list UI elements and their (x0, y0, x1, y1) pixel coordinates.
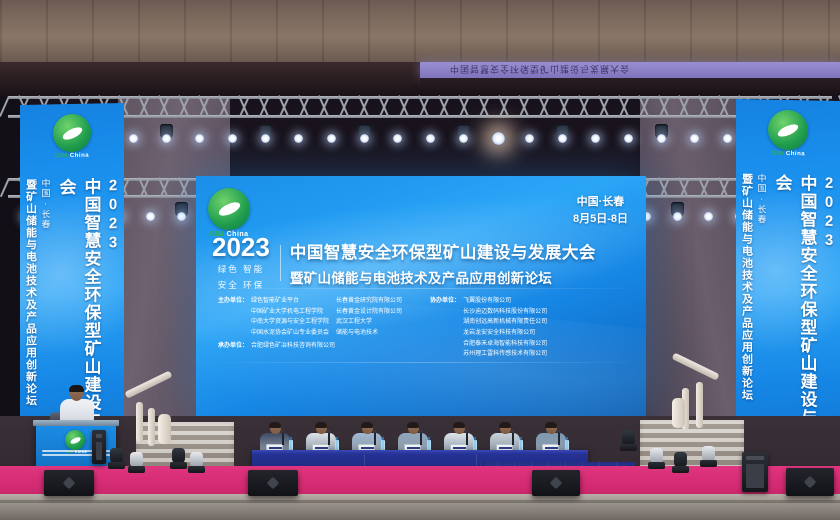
floor-light-3 (170, 448, 187, 469)
main-led-screen: GIM China 中国·长春 8月5日-8日 2023 绿色 智能 安全 环保… (196, 176, 646, 416)
stage-spotlight (492, 132, 505, 145)
stage-spotlight (393, 134, 402, 143)
event-keywords-line2: 安全 环保 (212, 279, 270, 292)
table-microphone (512, 432, 514, 445)
ceiling-wall (0, 0, 840, 62)
stage-spotlight (360, 134, 369, 143)
panelist-row (252, 420, 588, 452)
logo-suffix: China (786, 151, 805, 157)
host-organizer-item: 储能与电池技术 (336, 328, 402, 339)
screen-headline: 2023 绿色 智能 安全 环保 中国智慧安全环保型矿山建设与发展大会 暨矿山储… (212, 234, 636, 292)
lamp-row-upper (0, 134, 840, 156)
event-location-block: 中国·长春 8月5日-8日 (573, 194, 628, 228)
organizer-name: 合肥绿色矿冶科技咨询有限公司 (251, 340, 335, 349)
stage-spotlight (690, 134, 699, 143)
balustrade-right (668, 374, 718, 452)
stage-monitor-3 (532, 470, 580, 496)
stage-spotlight (657, 134, 666, 143)
stage-spotlight (624, 134, 633, 143)
logo-suffix: China (70, 153, 89, 159)
host-organizer-item: 中国矿业大学机电工程学院 (251, 307, 329, 318)
host-label: 主办单位： (218, 296, 248, 360)
floor-light-1 (108, 448, 125, 469)
front-platform-edge (0, 494, 840, 520)
stage-spotlight (261, 134, 270, 143)
stage-spotlight (525, 134, 534, 143)
floor-light-8 (620, 430, 637, 451)
logo-brand: GIM (55, 153, 68, 159)
co-organizer-item: 长沙迪迈数码科技股份有限公司 (463, 307, 547, 318)
floor-light-4 (188, 452, 205, 473)
venue-top-banner: 中国智慧安全环保型矿山建设与发展大会 (420, 62, 840, 78)
event-year-block: 2023 绿色 智能 安全 环保 (212, 234, 280, 292)
logo-brand: GIM (771, 151, 784, 157)
stage-spotlight (558, 134, 567, 143)
sponsors-block: 主办单位： 绿色智能矿业平台中国矿业大学机电工程学院中南大学资源与安全工程学院中… (218, 296, 636, 360)
co-organizer-item: 苏州理工雷科传感技术有限公司 (463, 349, 547, 360)
speaker-stack-right (742, 452, 768, 492)
stage-spotlight (228, 134, 237, 143)
table-microphone (282, 432, 284, 445)
stage-monitor-2 (248, 470, 298, 496)
stage-spotlight (723, 134, 732, 143)
stage-spotlight (177, 212, 186, 221)
floor-light-5 (648, 448, 665, 469)
truss-upper (8, 96, 832, 118)
stage-monitor-1 (44, 470, 94, 496)
floor-light-6 (672, 452, 689, 473)
speaker-stack-left (92, 430, 106, 464)
gim-china-logo: GIM China (53, 114, 91, 160)
co-organizer-item: 合肥泰禾卓海智能科技有限公司 (463, 339, 547, 350)
co-organizer-item: 龙岩龙安安全科技有限公司 (463, 328, 547, 339)
event-subtitle: 暨矿山储能与电池技术及产品应用创新论坛 (290, 267, 596, 287)
conference-stage-scene: 中国智慧安全环保型矿山建设与发展大会 GIM China 2023 中国智慧安全… (0, 0, 840, 520)
host-list-col2: 长春黄金研究院有限公司长春黄金设计院有限公司武汉工程大学储能与电池技术 (336, 296, 402, 360)
stage-spotlight (162, 134, 171, 143)
event-location: 中国·长春 (573, 194, 628, 211)
stage-spotlight (426, 134, 435, 143)
coorg-label: 协办单位： (430, 296, 460, 360)
host-organizer-item: 长春黄金研究院有限公司 (336, 296, 402, 307)
host-organizer-item: 绿色智能矿业平台 (251, 296, 329, 307)
table-microphone (466, 432, 468, 445)
stage-spotlight (327, 134, 336, 143)
floor-light-7 (700, 446, 717, 467)
upper-dark-wall-right (420, 78, 840, 96)
table-microphone (420, 432, 422, 445)
host-organizer-item: 中国水泥协会矿山专业委员会 (251, 328, 329, 339)
venue-top-banner-text: 中国智慧安全环保型矿山建设与发展大会 (450, 63, 630, 76)
event-title: 中国智慧安全环保型矿山建设与发展大会 (290, 239, 596, 263)
host-organizer-item: 中南大学资源与安全工程学院 (251, 317, 329, 328)
co-organizer-item: 飞翼股份有限公司 (463, 296, 547, 307)
host-organizer-item: 武汉工程大学 (336, 317, 402, 328)
stage-spotlight (294, 134, 303, 143)
table-microphone (328, 432, 330, 445)
stage-spotlight (459, 134, 468, 143)
stage-spotlight (129, 134, 138, 143)
coorg-list: 飞翼股份有限公司长沙迪迈数码科技股份有限公司湖南创远高新机械有限责任公司龙岩龙安… (463, 296, 547, 360)
floor-light-2 (128, 452, 145, 473)
co-organizers: 协办单位： 飞翼股份有限公司长沙迪迈数码科技股份有限公司湖南创远高新机械有限责任… (430, 296, 547, 360)
table-microphone (558, 432, 560, 445)
headline-divider (280, 245, 281, 281)
stage-spotlight (195, 134, 204, 143)
podium-top-surface (33, 420, 119, 426)
co-organizer-item: 湖南创远高新机械有限责任公司 (463, 317, 547, 328)
table-microphone (374, 432, 376, 445)
upper-dark-wall-left (0, 62, 420, 96)
stage-spotlight (673, 212, 682, 221)
event-dates: 8月5日-8日 (573, 211, 628, 228)
organizer-block: 承办单位： 合肥绿色矿冶科技咨询有限公司 (218, 340, 335, 349)
gim-china-logo: GIM China (768, 110, 808, 158)
event-year: 2023 (212, 234, 270, 260)
host-organizer-item: 长春黄金设计院有限公司 (336, 307, 402, 318)
stage-spotlight (591, 134, 600, 143)
host-list-col1: 绿色智能矿业平台中国矿业大学机电工程学院中南大学资源与安全工程学院中国水泥协会矿… (251, 296, 329, 360)
host-organizers: 主办单位： 绿色智能矿业平台中国矿业大学机电工程学院中南大学资源与安全工程学院中… (218, 296, 402, 360)
organizer-label: 承办单位： (218, 340, 248, 349)
gim-china-logo: GIM China (208, 188, 250, 238)
stage-monitor-4 (786, 468, 834, 496)
stage-spotlight (146, 212, 155, 221)
event-keywords-line1: 绿色 智能 (212, 263, 270, 276)
stage-spotlight (704, 212, 713, 221)
